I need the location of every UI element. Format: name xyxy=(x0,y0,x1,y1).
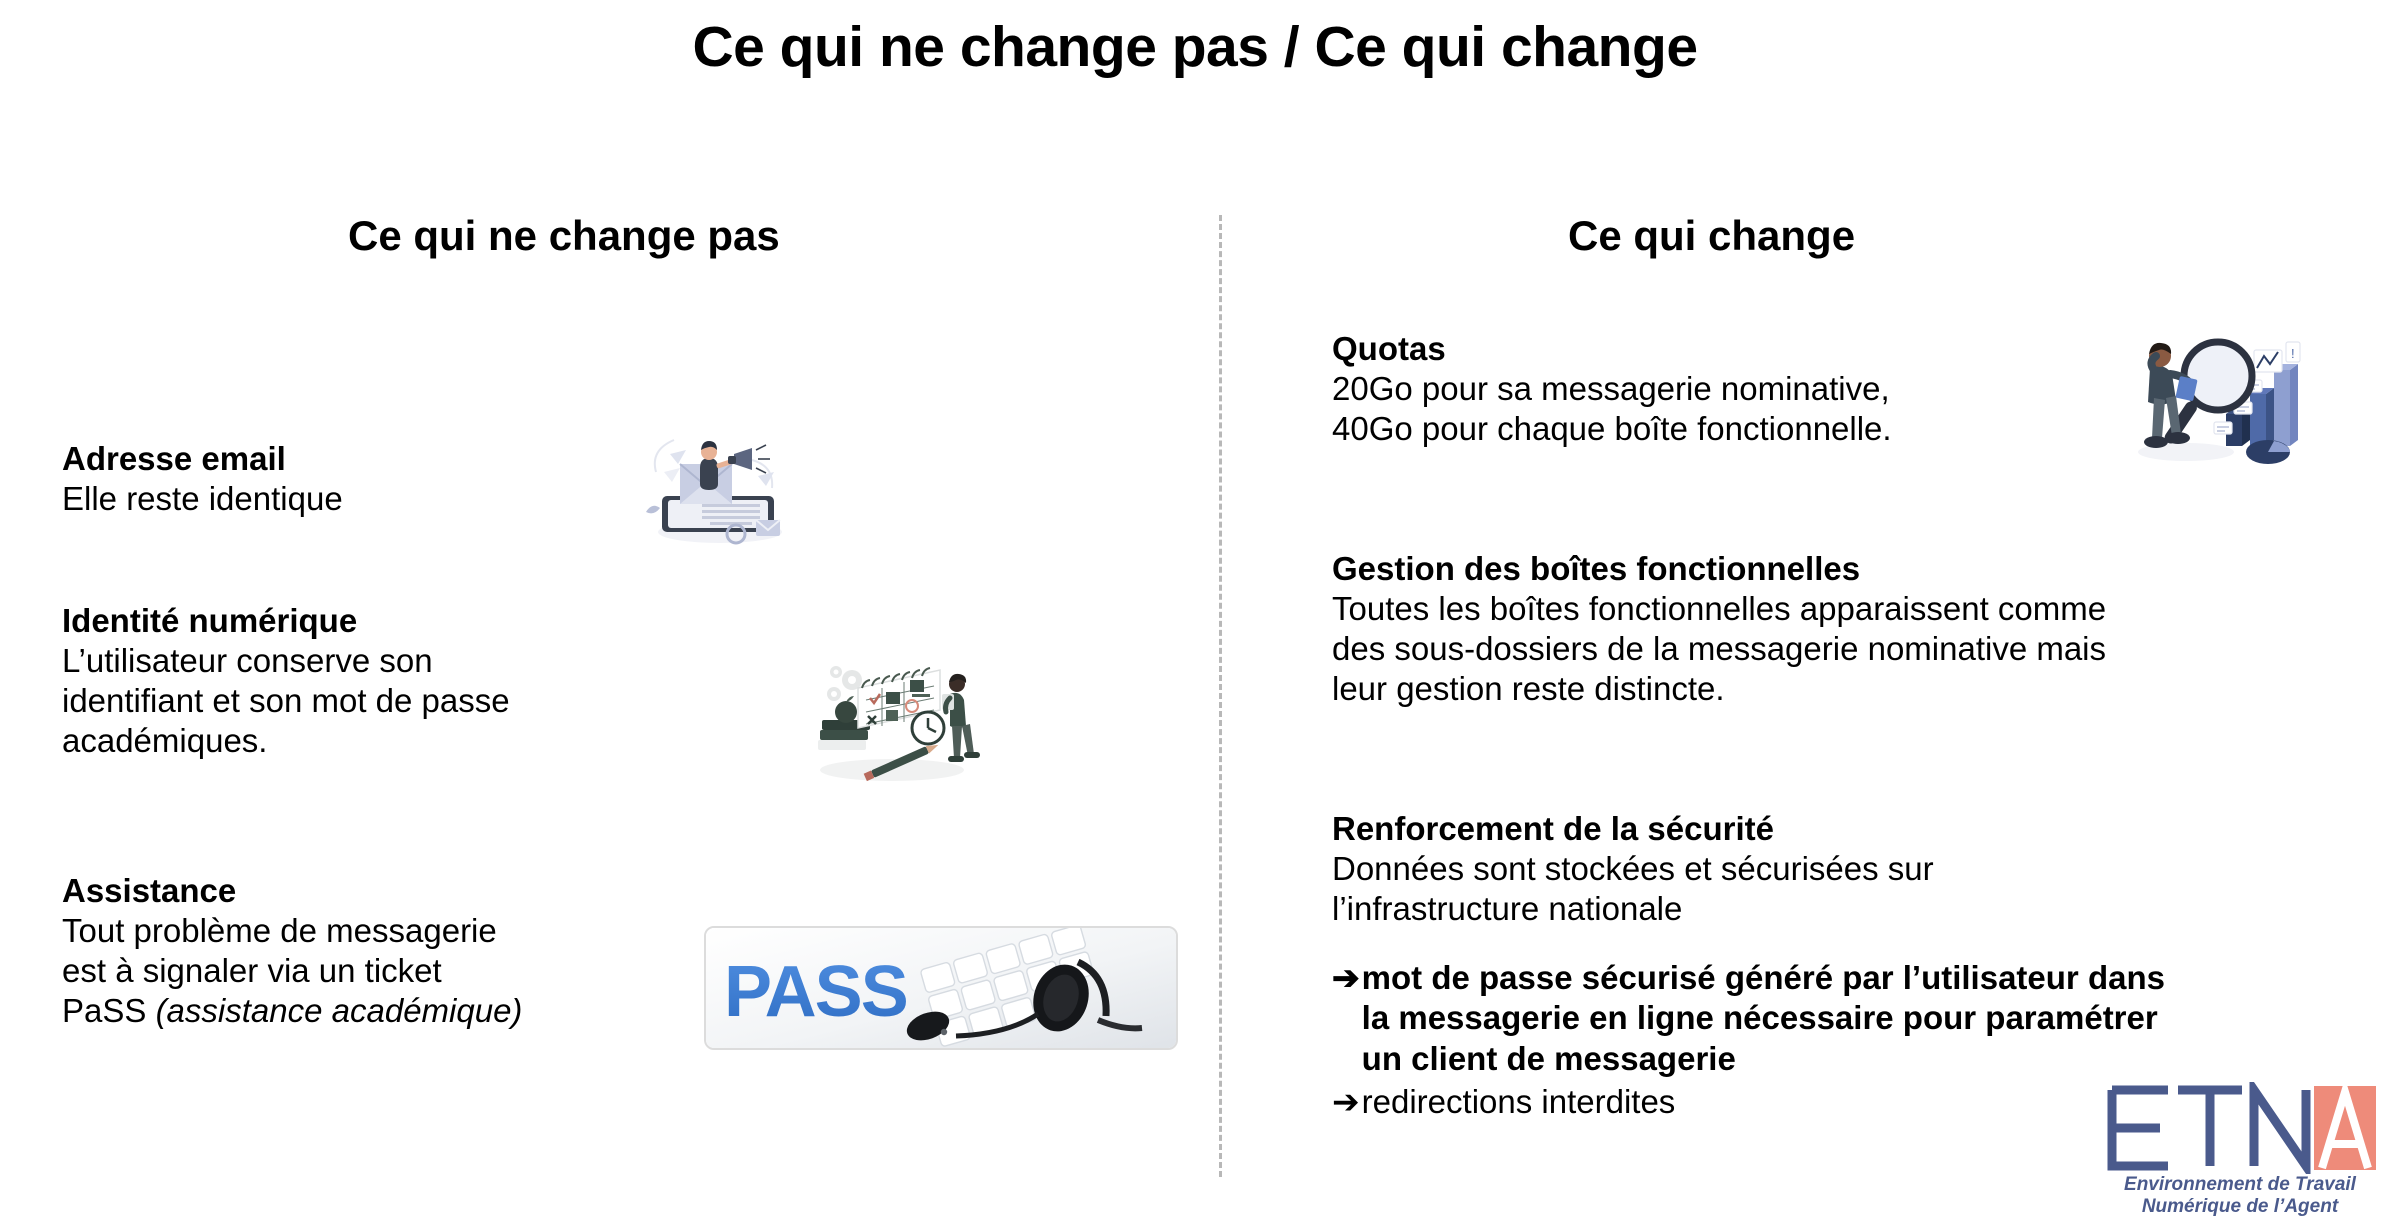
page-title: Ce qui ne change pas / Ce qui change xyxy=(0,14,2390,80)
block-body: Données sont stockées et sécurisées sur … xyxy=(1332,849,2390,930)
body-line: redirections interdites xyxy=(1362,1082,1676,1122)
block-identite-numerique: Identité numérique L’utilisateur conserv… xyxy=(62,602,702,762)
body-line: académiques. xyxy=(62,721,702,761)
body-line: la messagerie en ligne nécessaire pour p… xyxy=(1362,998,2165,1038)
block-body: L’utilisateur conserve son identifiant e… xyxy=(62,641,702,762)
pass-label: PaSS xyxy=(62,992,156,1029)
block-title: Identité numérique xyxy=(62,602,702,641)
block-title: Assistance xyxy=(62,872,702,911)
block-adresse-email: Adresse email Elle reste identique xyxy=(62,440,702,519)
svg-text:!: ! xyxy=(2291,346,2295,361)
body-line: leur gestion reste distincte. xyxy=(1332,669,2390,709)
tagline-line-1: Environnement de Travail xyxy=(2102,1174,2378,1196)
body-line: Toutes les boîtes fonctionnelles apparai… xyxy=(1332,589,2390,629)
body-line: est à signaler via un ticket xyxy=(62,951,702,991)
body-line: Données sont stockées et sécurisées sur xyxy=(1332,849,2390,889)
body-line: des sous-dossiers de la messagerie nomin… xyxy=(1332,629,2390,669)
tagline-line-2: Numérique de l’Agent xyxy=(2102,1196,2378,1218)
body-line: identifiant et son mot de passe xyxy=(62,681,702,721)
arrow-bullet-text: redirections interdites xyxy=(1362,1082,1676,1122)
pass-support-banner: PASS xyxy=(704,926,1178,1050)
block-gestion-boites: Gestion des boîtes fonctionnelles Toutes… xyxy=(1332,550,2390,710)
block-body: Tout problème de messagerie est à signal… xyxy=(62,911,702,1032)
block-assistance: Assistance Tout problème de messagerie e… xyxy=(62,872,702,1032)
body-line: l’infrastructure nationale xyxy=(1332,889,2390,929)
pass-note: (assistance académique) xyxy=(156,992,523,1029)
analytics-magnifier-illustration: ! xyxy=(2108,318,2308,473)
body-line: un client de messagerie xyxy=(1362,1039,2165,1079)
slide-canvas: Ce qui ne change pas / Ce qui change Ce … xyxy=(0,0,2390,1232)
body-line-pass: PaSS (assistance académique) xyxy=(62,991,702,1031)
calendar-planning-illustration xyxy=(800,632,980,787)
block-body: Elle reste identique xyxy=(62,479,702,519)
block-renforcement-securite: Renforcement de la sécurité Données sont… xyxy=(1332,810,2390,929)
right-column-heading: Ce qui change xyxy=(1568,212,1855,260)
arrow-bullet-item: ➔ mot de passe sécurisé généré par l’uti… xyxy=(1332,958,2390,1079)
body-line: L’utilisateur conserve son xyxy=(62,641,702,681)
block-title: Renforcement de la sécurité xyxy=(1332,810,2390,849)
left-column-heading: Ce qui ne change pas xyxy=(348,212,780,260)
arrow-right-icon: ➔ xyxy=(1332,958,1362,998)
body-line: Elle reste identique xyxy=(62,479,702,519)
block-body: Toutes les boîtes fonctionnelles apparai… xyxy=(1332,589,2390,710)
etna-logo-tagline: Environnement de Travail Numérique de l’… xyxy=(2102,1174,2378,1219)
arrow-bullet-text: mot de passe sécurisé généré par l’utili… xyxy=(1362,958,2165,1079)
body-line: mot de passe sécurisé généré par l’utili… xyxy=(1362,958,2165,998)
column-divider xyxy=(1219,215,1222,1177)
etna-logo-mark xyxy=(2102,1082,2378,1174)
pass-wordmark: PASS xyxy=(724,952,907,1032)
block-title: Adresse email xyxy=(62,440,702,479)
etna-logo: Environnement de Travail Numérique de l’… xyxy=(2102,1082,2378,1224)
email-megaphone-illustration xyxy=(640,420,800,550)
block-title: Gestion des boîtes fonctionnelles xyxy=(1332,550,2390,589)
arrow-right-icon: ➔ xyxy=(1332,1082,1362,1122)
body-line: Tout problème de messagerie xyxy=(62,911,702,951)
